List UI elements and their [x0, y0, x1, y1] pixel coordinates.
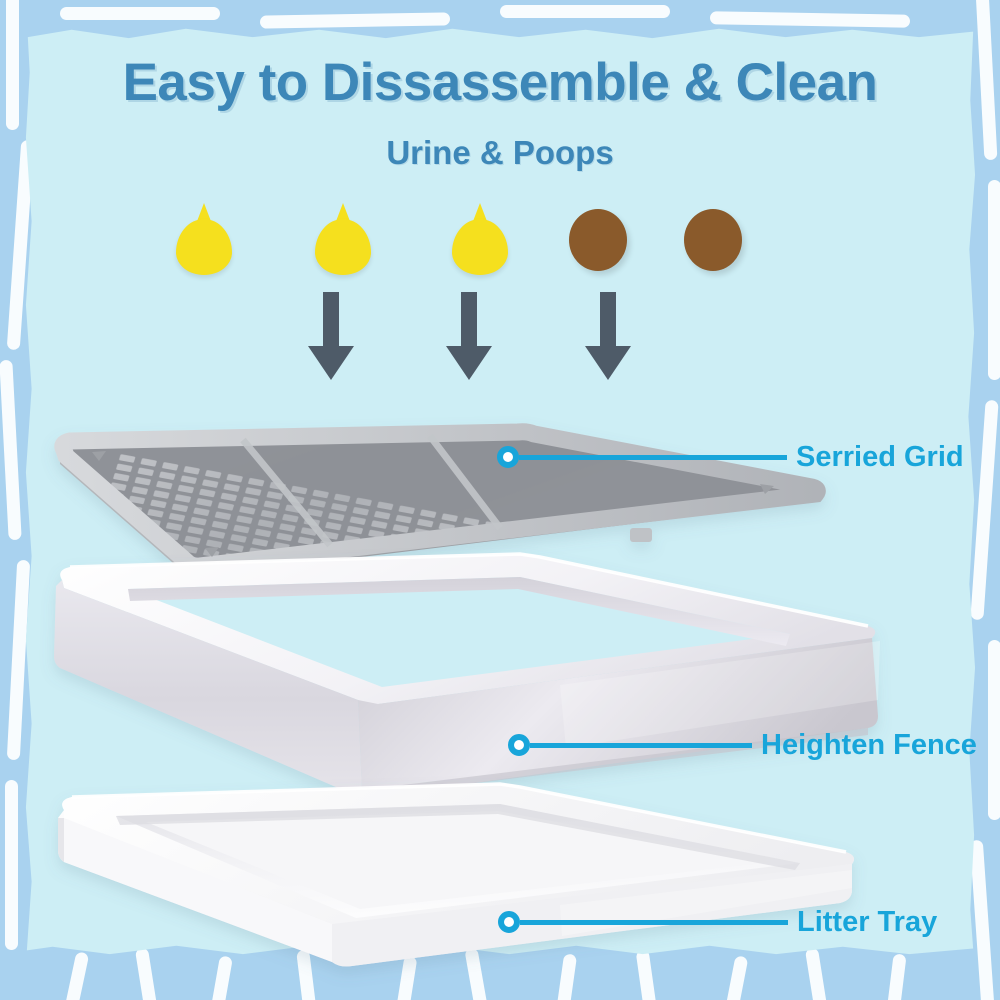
callout-dot-icon — [508, 734, 530, 756]
callout-label: Heighten Fence — [761, 729, 977, 762]
callout-leader-line — [530, 743, 752, 748]
callout-label: Serried Grid — [796, 441, 964, 474]
callout-dot-icon — [498, 911, 520, 933]
callout-leader-line — [519, 455, 787, 460]
callout-dot-icon — [497, 446, 519, 468]
callout-label: Litter Tray — [797, 906, 937, 939]
callout-heighten-fence[interactable]: Heighten Fence — [508, 728, 977, 762]
callout-serried-grid[interactable]: Serried Grid — [497, 440, 964, 474]
callout-litter-tray[interactable]: Litter Tray — [498, 905, 937, 939]
litter-tray-part — [58, 784, 854, 967]
exploded-product-view — [0, 0, 1000, 1000]
infographic-canvas: Easy to Dissassemble & Clean Urine & Poo… — [0, 0, 1000, 1000]
callout-leader-line — [520, 920, 788, 925]
